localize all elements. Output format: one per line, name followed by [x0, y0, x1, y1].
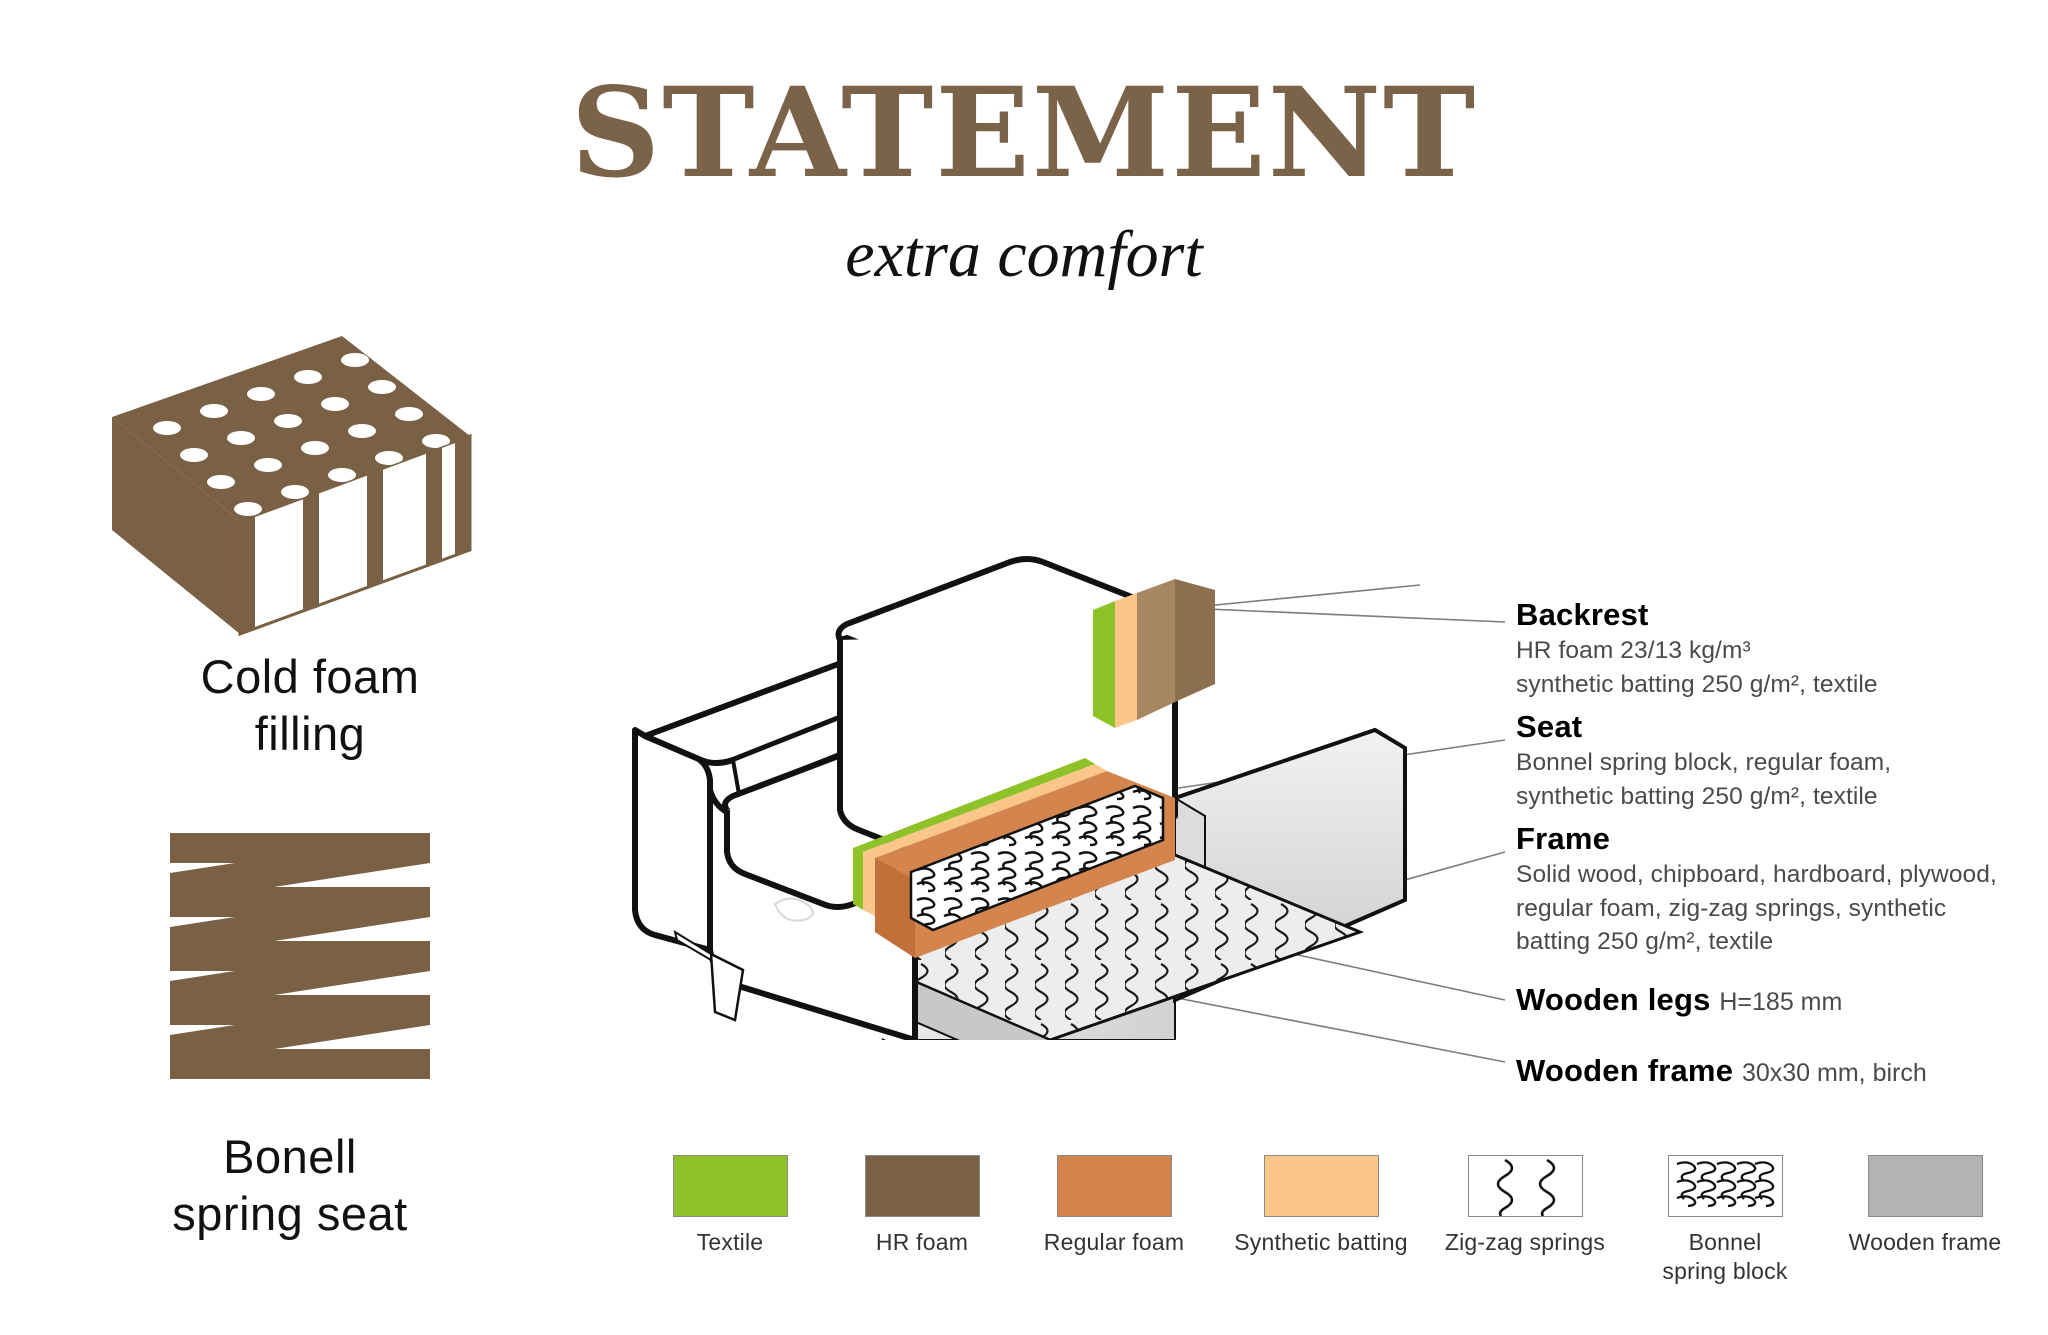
- cold-foam-caption-line1: Cold foam: [40, 648, 580, 705]
- spec-backrest: Backrest HR foam 23/13 kg/m³ synthetic b…: [1516, 596, 1878, 701]
- spec-frame-line1: Solid wood, chipboard, hardboard, plywoo…: [1516, 858, 1997, 892]
- spec-wooden-legs-title: Wooden legs: [1516, 982, 1711, 1017]
- cold-foam-caption-line2: filling: [40, 705, 580, 762]
- legend-label-regular-foam: Regular foam: [1014, 1228, 1214, 1257]
- legend-item-bonnel-spring-block: Bonnel spring block: [1620, 1155, 1830, 1286]
- legend-item-wooden-frame: Wooden frame: [1820, 1155, 2030, 1257]
- spec-frame-line3: batting 250 g/m², textile: [1516, 925, 1997, 959]
- spec-backrest-heading: Backrest: [1516, 596, 1878, 634]
- legend-swatch-synthetic-batting: [1264, 1155, 1379, 1217]
- page-title: STATEMENT: [0, 72, 2048, 196]
- spec-seat-heading: Seat: [1516, 708, 1891, 746]
- spec-wooden-frame-title: Wooden frame: [1516, 1053, 1733, 1088]
- legend-swatch-bonnel-spring-block: [1668, 1155, 1783, 1217]
- legend-swatch-zigzag-springs: [1468, 1155, 1583, 1217]
- materials-legend: Textile HR foam Regular foam Synthetic b…: [630, 1155, 2020, 1305]
- spec-seat-line2: synthetic batting 250 g/m², textile: [1516, 780, 1891, 814]
- bonell-spring-caption: Bonell spring seat: [20, 1128, 560, 1243]
- spec-wooden-legs-heading: Wooden legs H=185 mm: [1516, 981, 1842, 1019]
- spec-wooden-frame: Wooden frame 30x30 mm, birch: [1516, 1052, 1927, 1090]
- page-subtitle: extra comfort: [0, 222, 2048, 288]
- bonell-caption-line2: spring seat: [20, 1185, 560, 1242]
- cold-foam-caption: Cold foam filling: [40, 648, 580, 763]
- spec-seat-line1: Bonnel spring block, regular foam,: [1516, 746, 1891, 780]
- legend-item-regular-foam: Regular foam: [1014, 1155, 1214, 1257]
- bonell-spring-illustration: [150, 825, 450, 1105]
- sofa-cutaway-illustration: [615, 480, 1415, 1040]
- legend-label-zigzag-springs: Zig-zag springs: [1420, 1228, 1630, 1257]
- bonell-caption-line1: Bonell: [20, 1128, 560, 1185]
- legend-label-bonnel-line1: Bonnel: [1620, 1228, 1830, 1257]
- cold-foam-block-illustration: [95, 318, 525, 643]
- legend-label-textile: Textile: [630, 1228, 830, 1257]
- legend-item-hr-foam: HR foam: [822, 1155, 1022, 1257]
- spec-wooden-frame-detail: 30x30 mm, birch: [1742, 1059, 1927, 1087]
- legend-item-zigzag-springs: Zig-zag springs: [1420, 1155, 1630, 1257]
- legend-label-wooden-frame: Wooden frame: [1820, 1228, 2030, 1257]
- spec-frame-line2: regular foam, zig-zag springs, synthetic: [1516, 892, 1997, 926]
- legend-item-textile: Textile: [630, 1155, 830, 1257]
- legend-label-synthetic-batting: Synthetic batting: [1206, 1228, 1436, 1257]
- legend-swatch-textile: [673, 1155, 788, 1217]
- spec-seat: Seat Bonnel spring block, regular foam, …: [1516, 708, 1891, 813]
- spec-frame: Frame Solid wood, chipboard, hardboard, …: [1516, 820, 1997, 959]
- spec-frame-heading: Frame: [1516, 820, 1997, 858]
- spec-wooden-legs-detail: H=185 mm: [1719, 988, 1842, 1016]
- legend-swatch-regular-foam: [1057, 1155, 1172, 1217]
- legend-label-bonnel-spring-block: Bonnel spring block: [1620, 1228, 1830, 1286]
- legend-label-bonnel-line2: spring block: [1620, 1257, 1830, 1286]
- spec-backrest-line2: synthetic batting 250 g/m², textile: [1516, 668, 1878, 702]
- spec-wooden-frame-heading: Wooden frame 30x30 mm, birch: [1516, 1052, 1927, 1090]
- legend-label-hr-foam: HR foam: [822, 1228, 1022, 1257]
- spec-wooden-legs: Wooden legs H=185 mm: [1516, 981, 1842, 1019]
- legend-item-synthetic-batting: Synthetic batting: [1206, 1155, 1436, 1257]
- spec-backrest-line1: HR foam 23/13 kg/m³: [1516, 634, 1878, 668]
- legend-swatch-hr-foam: [865, 1155, 980, 1217]
- legend-swatch-wooden-frame: [1868, 1155, 1983, 1217]
